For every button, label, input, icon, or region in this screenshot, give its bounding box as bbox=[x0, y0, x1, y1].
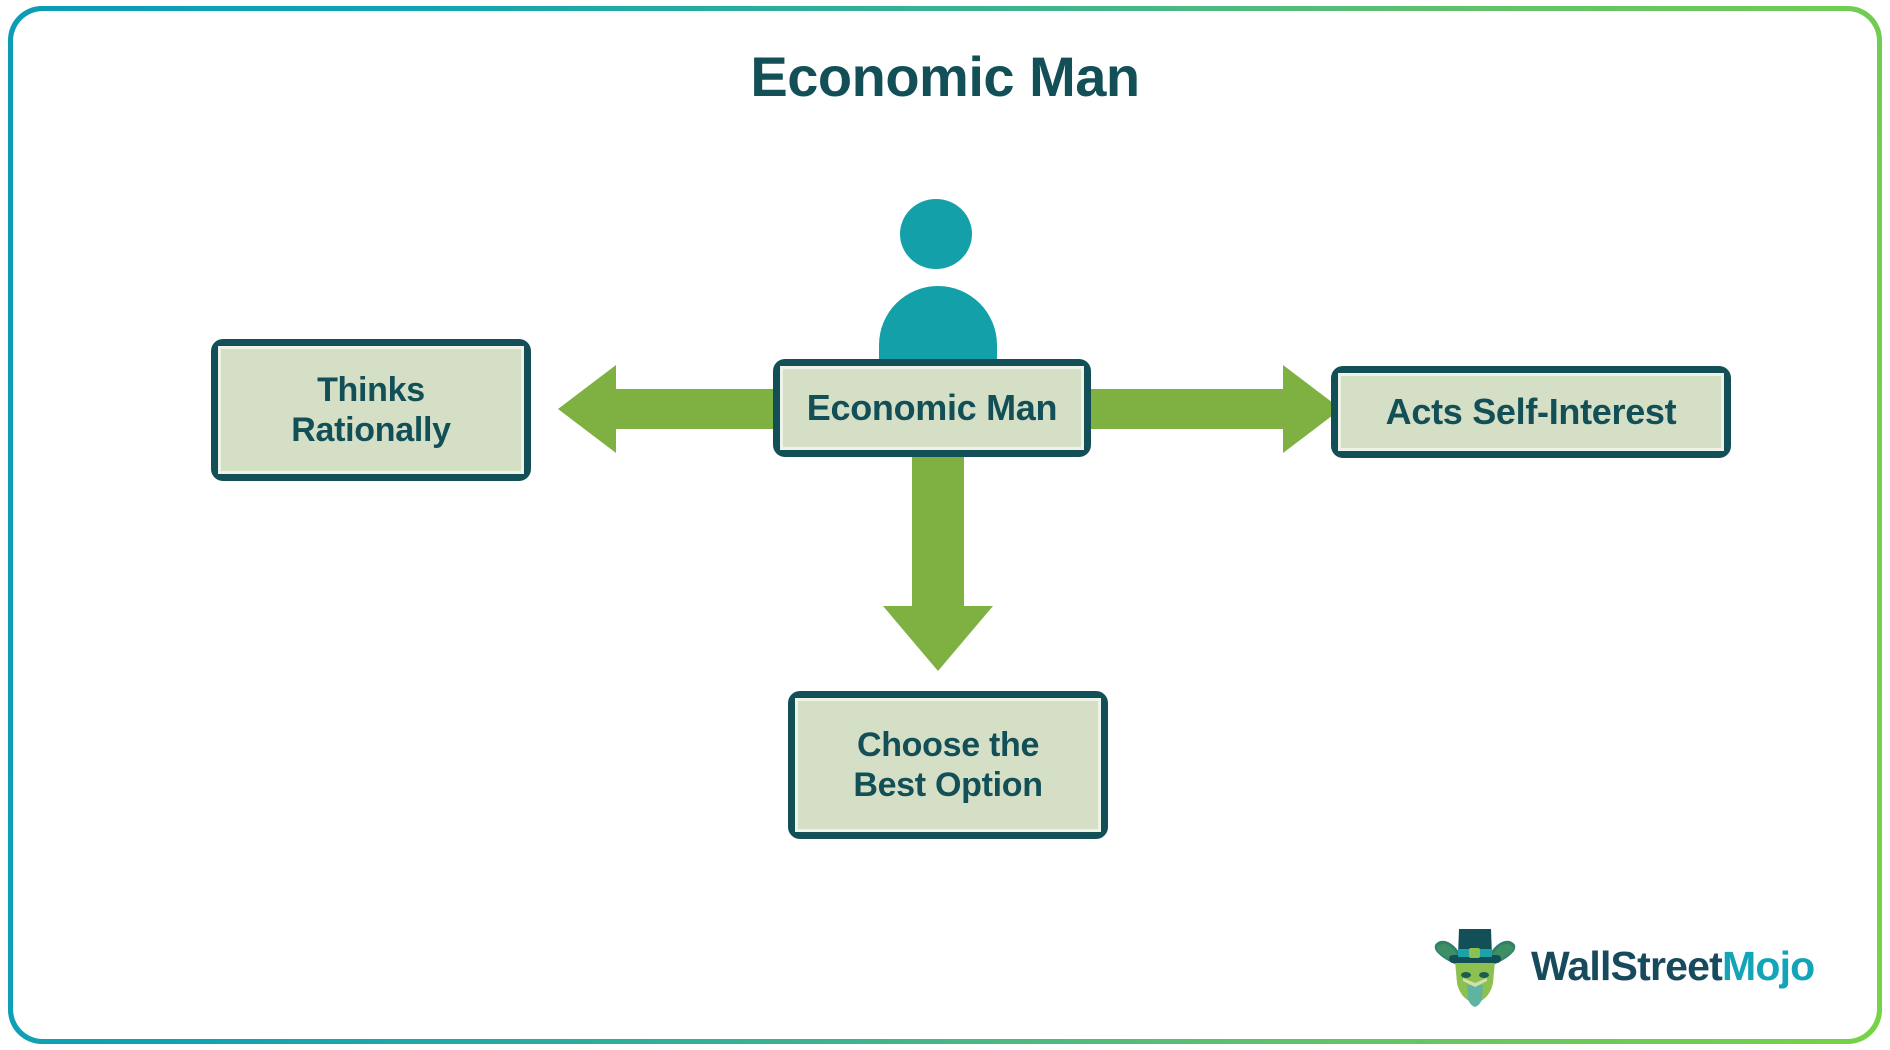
page-title: Economic Man bbox=[13, 43, 1877, 110]
node-acts-self-interest-inner: Acts Self-Interest bbox=[1338, 373, 1724, 451]
node-choose-best-option[interactable]: Choose the Best Option bbox=[788, 691, 1108, 839]
node-choose-best-option-line2: Best Option bbox=[853, 766, 1042, 804]
node-thinks-rationally[interactable]: Thinks Rationally bbox=[211, 339, 531, 481]
node-choose-best-option-label: Choose the Best Option bbox=[843, 725, 1052, 805]
wallstreetmojo-wordmark: WallStreetMojo bbox=[1531, 943, 1814, 990]
person-icon bbox=[879, 199, 999, 349]
logo-text-mojo: Mojo bbox=[1722, 943, 1814, 989]
arrow-down-icon bbox=[881, 441, 995, 671]
node-choose-best-option-inner: Choose the Best Option bbox=[795, 698, 1101, 832]
node-economic-man[interactable]: Economic Man bbox=[773, 359, 1091, 457]
node-acts-self-interest-label: Acts Self-Interest bbox=[1376, 391, 1687, 433]
arrow-right-icon bbox=[1081, 363, 1341, 455]
logo-text-wallstreet: WallStreet bbox=[1531, 943, 1722, 989]
page-frame: Economic Man Thi bbox=[8, 6, 1882, 1044]
diagram-canvas: Economic Man Thi bbox=[13, 11, 1877, 1039]
node-thinks-rationally-inner: Thinks Rationally bbox=[218, 346, 524, 474]
node-economic-man-label: Economic Man bbox=[797, 387, 1067, 429]
node-thinks-rationally-label: Thinks Rationally bbox=[281, 370, 460, 450]
person-head-shape bbox=[900, 199, 972, 269]
node-choose-best-option-line1: Choose the bbox=[857, 726, 1039, 764]
node-thinks-rationally-line2: Rationally bbox=[291, 411, 450, 449]
wallstreetmojo-logo[interactable]: WallStreetMojo bbox=[1433, 923, 1814, 1009]
bull-with-top-hat-icon bbox=[1433, 923, 1517, 1009]
person-body-shape bbox=[879, 286, 997, 366]
node-acts-self-interest[interactable]: Acts Self-Interest bbox=[1331, 366, 1731, 458]
node-thinks-rationally-line1: Thinks bbox=[317, 371, 425, 409]
node-economic-man-inner: Economic Man bbox=[780, 366, 1084, 450]
